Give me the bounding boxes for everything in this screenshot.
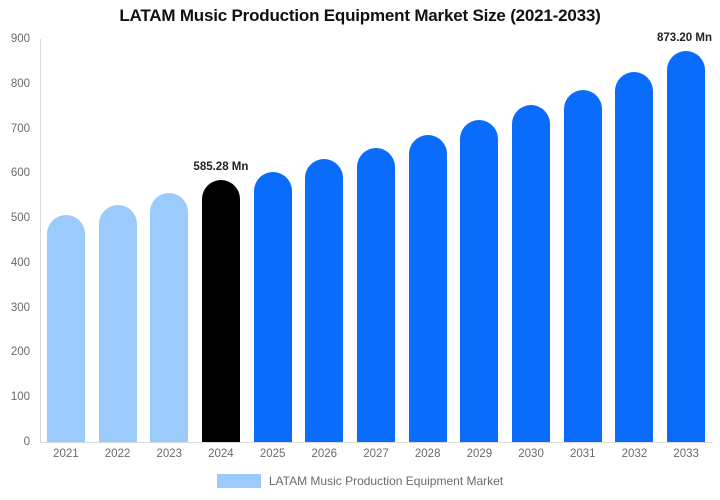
bars-layer	[40, 39, 712, 442]
x-axis-tick-label: 2033	[673, 448, 699, 460]
x-axis-tick-label: 2030	[518, 448, 544, 460]
y-axis-tick-label: 500	[11, 212, 30, 224]
bar-2023[interactable]	[150, 193, 188, 442]
bar-2031[interactable]	[564, 90, 602, 442]
bar-2026[interactable]	[305, 159, 343, 442]
bar-2033[interactable]	[667, 51, 705, 442]
y-axis-tick-label: 400	[11, 257, 30, 269]
bar-2027[interactable]	[357, 148, 395, 442]
y-axis-tick-label: 300	[11, 302, 30, 314]
bar-2029[interactable]	[460, 120, 498, 442]
bar-2025[interactable]	[254, 172, 292, 442]
x-axis-tick-label: 2025	[260, 448, 286, 460]
y-axis-tick-label: 800	[11, 78, 30, 90]
y-axis: 0100200300400500600700800900	[0, 0, 38, 500]
bar-2024[interactable]	[202, 180, 240, 442]
legend-item-label: LATAM Music Production Equipment Market	[269, 474, 503, 488]
bar-2022[interactable]	[99, 205, 137, 442]
y-axis-tick-label: 100	[11, 391, 30, 403]
y-axis-tick-label: 200	[11, 346, 30, 358]
y-axis-tick-label: 900	[11, 33, 30, 45]
chart-title: LATAM Music Production Equipment Market …	[0, 6, 720, 26]
bar-2032[interactable]	[615, 72, 653, 442]
x-axis-tick-label: 2024	[208, 448, 234, 460]
x-axis-tick-label: 2021	[53, 448, 79, 460]
y-axis-tick-label: 700	[11, 123, 30, 135]
x-axis-tick-label: 2026	[312, 448, 338, 460]
x-axis: 2021202220232024202520262027202820292030…	[40, 448, 712, 468]
chart-legend: LATAM Music Production Equipment Market	[0, 474, 720, 488]
plot-area	[40, 39, 712, 442]
bar-value-label: 873.20 Mn	[657, 32, 712, 44]
x-axis-line	[40, 442, 712, 443]
chart-container: LATAM Music Production Equipment Market …	[0, 0, 720, 500]
bar-value-label: 585.28 Mn	[193, 161, 248, 173]
bar-2028[interactable]	[409, 135, 447, 442]
x-axis-tick-label: 2029	[467, 448, 493, 460]
x-axis-tick-label: 2022	[105, 448, 131, 460]
x-axis-tick-label: 2028	[415, 448, 441, 460]
bar-2030[interactable]	[512, 105, 550, 442]
y-axis-tick-label: 600	[11, 167, 30, 179]
bar-2021[interactable]	[47, 215, 85, 442]
x-axis-tick-label: 2027	[363, 448, 389, 460]
y-axis-tick-label: 0	[24, 436, 30, 448]
x-axis-tick-label: 2023	[156, 448, 182, 460]
x-axis-tick-label: 2032	[622, 448, 648, 460]
x-axis-tick-label: 2031	[570, 448, 596, 460]
legend-swatch-icon	[217, 474, 261, 488]
